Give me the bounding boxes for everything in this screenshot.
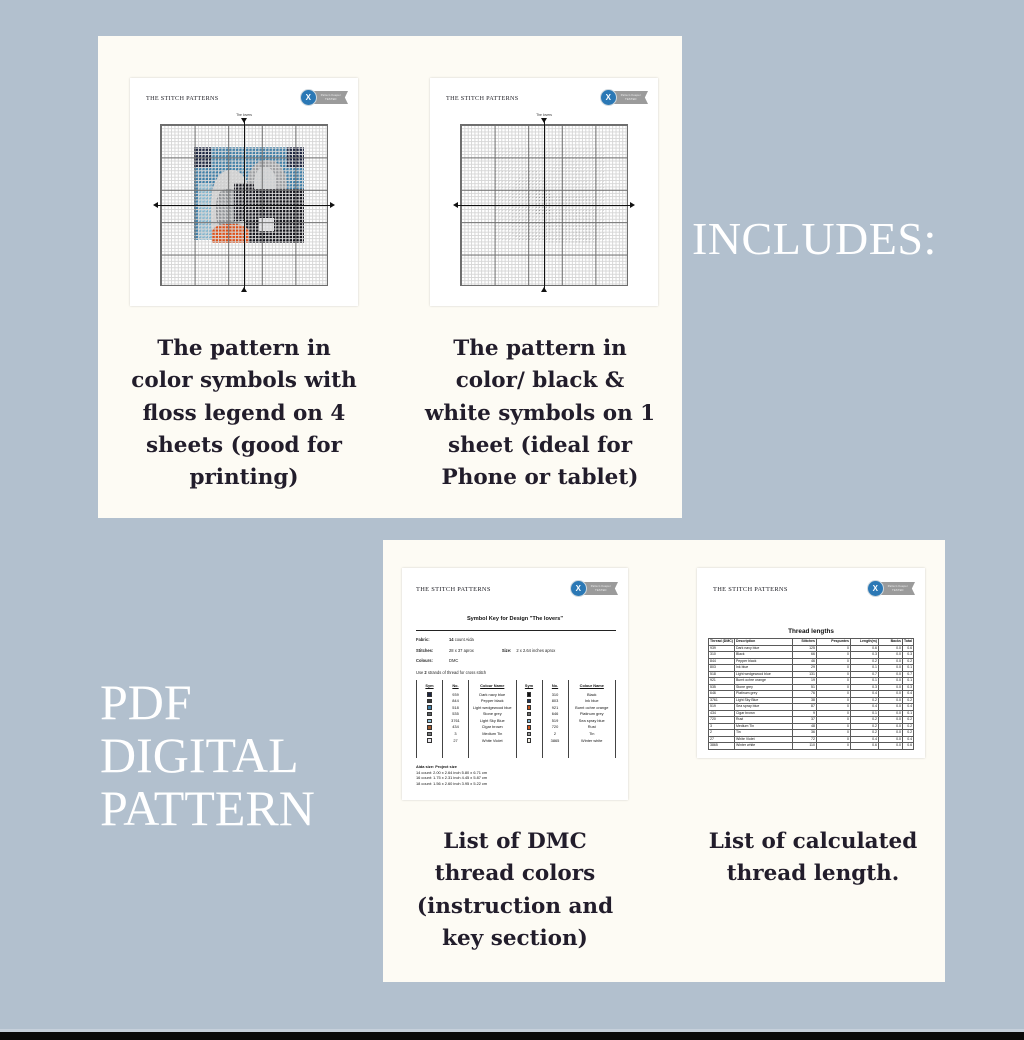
thread-number: 519 [543,718,568,725]
thread-lengths-title: Thread lengths [697,628,925,635]
badge-line-2: TESTED [625,98,636,102]
colours-value: DMC [449,659,458,663]
sheet-brand-title: THE STITCH PATTERNS [146,95,219,102]
caption-bw-symbols: The pattern in color/ black & white symb… [420,333,660,494]
table-cell: Winter white [734,743,792,750]
project-size-footer: Aida size: Project size 14 count: 2.00 x… [416,764,487,787]
fabric-row: Fabric: 14 count Aida [416,638,616,642]
thread-number: 2 [543,731,568,738]
project-size-label: Project size [435,764,457,769]
thread-colour-name: Stone grey [469,711,516,718]
pdf-line-3: PATTERN [100,782,315,835]
thread-colour-name: Dark navy blue [469,692,516,699]
thread-number: 434 [443,724,468,731]
thread-colour-name: Ink blue [569,698,616,705]
table-cell: 0.0 [878,743,902,750]
col-sym-right: Sym [517,680,543,758]
bottom-black-bar [0,1032,1024,1040]
symbol-swatch [417,724,442,731]
sheet-brand-title: THE STITCH PATTERNS [713,586,788,593]
symbol-swatch [517,731,542,738]
thread-colour-name: Black [569,692,616,699]
thread-colour-name: Burnt ochre orange [569,705,616,712]
table-body: 939Dark navy blue12500.60.00.6310Black66… [709,645,914,749]
size-label: Size: [502,649,512,653]
strands-note: Use 2 strands of thread for cross stitch [416,670,486,675]
no-right-cells: 31080392164651972023865 [543,692,568,745]
axis-marker-left-icon [453,202,458,208]
fabric-label: Fabric: [416,638,449,642]
thread-number: 646 [543,711,568,718]
symbol-swatch [417,705,442,712]
thread-colour-name: Light Sky Blue [469,718,516,725]
thread-colour-name: White Violet [469,738,516,745]
thread-number: 27 [443,738,468,745]
thread-colour-name: Pepper black [469,698,516,705]
column-header: Thread (DMC) [709,639,735,646]
size-value: 2 x 2.64 inches aprox [516,649,555,653]
axis-vertical [544,119,545,291]
caption-dmc-list: List of DMC thread colors (instruction a… [404,826,626,955]
stitches-row: Stitches: 28 x 37 aprox Size: 2 x 2.64 i… [416,649,616,653]
table-cell: 0.6 [850,743,878,750]
no-left-cells: 9398445185353761434327 [443,692,468,745]
thread-colour-name: Tin [569,731,616,738]
table-cell: 0 [816,743,850,750]
badge-line-2: TESTED [595,589,606,593]
badge-x-icon: X [300,89,317,106]
axis-marker-top-icon [541,118,547,123]
axis-marker-bottom-icon [241,287,247,292]
pattern-keeper-badge: X Pattern Keeper TESTED [867,580,915,597]
stitches-value: 28 x 37 aprox [449,649,474,653]
pattern-keeper-badge: X Pattern Keeper TESTED [570,580,618,597]
axis-marker-right-icon [330,202,335,208]
pdf-line-1: PDF [100,676,315,729]
axis-marker-top-icon [241,118,247,123]
thread-colour-name: Light wedgewood blue [469,705,516,712]
project-size-rows: 14 count: 2.00 x 2.64 inch 5.80 x 6.71 c… [416,770,487,787]
thread-colour-name: Medium Tin [469,731,516,738]
symbol-swatch [517,738,542,745]
name-right-cells: BlackInk blueBurnt ochre orangePlatinum … [569,692,616,745]
col-no-left: No. 9398445185353761434327 [443,680,469,758]
header-no: No. [543,680,568,692]
caption-color-symbols: The pattern in color symbols with floss … [128,333,360,494]
strands-pre: Use [416,670,423,675]
fabric-count: 14 [449,637,454,642]
badge-x-icon: X [600,89,617,106]
pdf-digital-pattern-headline: PDF DIGITAL PATTERN [100,676,315,835]
sheet-brand-title: THE STITCH PATTERNS [416,586,491,593]
thread-number: 803 [543,698,568,705]
preview-sheet-bw-symbols[interactable]: THE STITCH PATTERNS X Pattern Keeper TES… [430,78,658,306]
axis-vertical [244,119,245,291]
badge-x-icon: X [867,580,884,597]
stitches-label: Stitches: [416,649,449,653]
pattern-keeper-badge: X Pattern Keeper TESTED [300,89,348,106]
thread-colour-name: Sea spray blue [569,718,616,725]
thread-number: 3761 [443,718,468,725]
symbol-swatch [417,692,442,699]
divider [416,630,616,631]
caption-thread-length: List of calculated thread length. [690,826,936,891]
preview-sheet-color-symbols[interactable]: THE STITCH PATTERNS X Pattern Keeper TES… [130,78,358,306]
symbol-swatch [417,731,442,738]
symbol-swatch [417,711,442,718]
includes-headline: INCLUDES: [692,212,937,265]
col-sym-left: Sym [417,680,443,758]
fabric-type: count Aida [455,637,474,642]
sym-right-cells [517,692,542,745]
header-name: Colour Name [469,680,516,692]
thread-number: 844 [443,698,468,705]
chart-caption: The lovers [452,113,636,117]
symbol-key-right-half: Sym No. 31080392164651972023865 Colour N… [516,680,616,758]
table-cell: 110 [792,743,816,750]
thread-colour-name: Platinum grey [569,711,616,718]
pattern-keeper-badge: X Pattern Keeper TESTED [600,89,648,106]
thread-colour-name: Winter white [569,738,616,745]
pdf-line-2: DIGITAL [100,729,315,782]
project-size-row: 18 count: 1.56 x 2.60 inch 3.95 x 5.22 c… [416,781,487,787]
badge-line-2: TESTED [325,98,336,102]
colours-row: Colours: DMC [416,659,616,663]
preview-sheet-symbol-key[interactable]: THE STITCH PATTERNS X Pattern Keeper TES… [402,568,628,800]
badge-x-icon: X [570,580,587,597]
thread-number: 3 [443,731,468,738]
chart-grid [160,124,328,286]
col-no-right: No. 31080392164651972023865 [543,680,569,758]
col-name-right: Colour Name BlackInk blueBurnt ochre ora… [569,680,616,758]
color-chart-area: The lovers [152,120,336,292]
thread-number: 939 [443,692,468,699]
symbol-swatch [417,718,442,725]
symbol-key-left-half: Sym No. 9398445185353761434327 Colour Na… [417,680,516,758]
thread-number: 720 [543,724,568,731]
bw-chart-area: The lovers [452,120,636,292]
header-no: No. [443,680,468,692]
symbol-swatch [517,724,542,731]
name-left-cells: Dark navy bluePepper blackLight wedgewoo… [469,692,516,745]
axis-marker-right-icon [630,202,635,208]
symbol-key-table: Sym No. 9398445185353761434327 Colour Na… [416,680,616,758]
table-cell: 3865 [709,743,735,750]
chart-grid [460,124,628,286]
chart-caption: The lovers [152,113,336,117]
thread-number: 518 [443,705,468,712]
thread-number: 3865 [543,738,568,745]
thread-colour-name: Rust [569,724,616,731]
strands-count: 2 [424,670,426,675]
strands-post: strands of thread for cross stitch [428,670,486,675]
colours-label: Colours: [416,659,449,663]
symbol-swatch [417,738,442,745]
symbol-swatch [417,698,442,705]
table-cell: 0.6 [902,743,913,750]
sheet-brand-title: THE STITCH PATTERNS [446,95,519,102]
table-row: 3865Winter white11000.60.00.6 [709,743,914,750]
col-name-left: Colour Name Dark navy bluePepper blackLi… [469,680,516,758]
fabric-info-block: Fabric: 14 count Aida Stitches: 28 x 37 … [416,638,616,670]
header-name: Colour Name [569,680,616,692]
header-sym: Sym [417,680,442,692]
sym-left-cells [417,692,442,745]
symbol-key-title: Symbol Key for Design "The lovers" [402,616,628,622]
badge-line-2: TESTED [892,589,903,593]
axis-marker-left-icon [153,202,158,208]
symbol-swatch [517,705,542,712]
thread-number: 921 [543,705,568,712]
column-header: Total [902,639,913,646]
symbol-swatch [517,711,542,718]
symbol-swatch [517,698,542,705]
thread-number: 310 [543,692,568,699]
thread-lengths-table: Thread (DMC)DescriptionStitchesPespuntes… [708,638,914,750]
thread-number: 535 [443,711,468,718]
axis-marker-bottom-icon [541,287,547,292]
symbol-swatch [517,692,542,699]
header-sym: Sym [517,680,542,692]
aida-size-label: Aida size: [416,764,434,769]
symbol-swatch [517,718,542,725]
thread-colour-name: Cigar brown [469,724,516,731]
preview-sheet-thread-lengths[interactable]: THE STITCH PATTERNS X Pattern Keeper TES… [697,568,925,758]
